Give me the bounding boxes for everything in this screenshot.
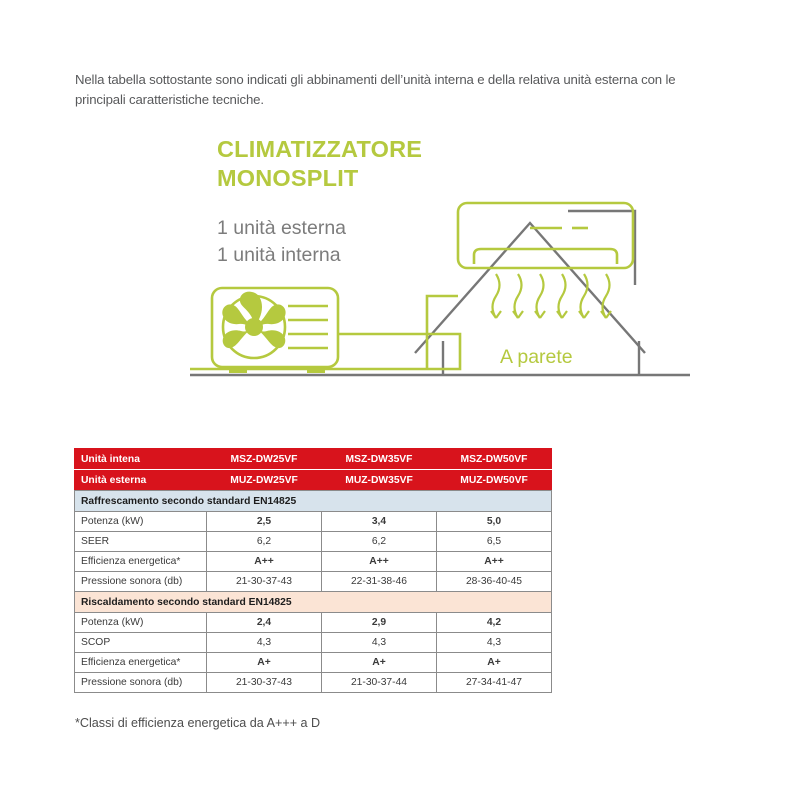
header-label-outdoor: Unità esterna (75, 470, 207, 491)
table-row: SEER 6,2 6,2 6,5 (75, 532, 552, 552)
row-value: 2,5 (207, 512, 322, 532)
specifications-table: Unità intena MSZ-DW25VF MSZ-DW35VF MSZ-D… (74, 448, 552, 693)
wall-mounted-split-icon (458, 203, 633, 268)
header-model-outdoor-2: MUZ-DW35VF (322, 470, 437, 491)
row-value: 6,2 (207, 532, 322, 552)
row-value: A+ (437, 653, 552, 673)
header-model-outdoor-1: MUZ-DW25VF (207, 470, 322, 491)
row-value: 22-31-38-46 (322, 572, 437, 592)
product-illustration: CLIMATIZZATORE MONOSPLIT 1 unità esterna… (190, 128, 690, 393)
efficiency-class-footnote: *Classi di efficienza energetica da A+++… (75, 716, 320, 730)
row-value: 21-30-37-43 (207, 673, 322, 693)
row-label: Pressione sonora (db) (75, 572, 207, 592)
outdoor-condenser-icon (212, 288, 338, 373)
row-value: A+ (322, 653, 437, 673)
header-model-indoor-1: MSZ-DW25VF (207, 449, 322, 470)
row-value: 5,0 (437, 512, 552, 532)
illustration-title-line1: CLIMATIZZATORE (217, 136, 422, 162)
illustration-subtitle-line1: 1 unità esterna (217, 217, 346, 239)
row-label: Efficienza energetica* (75, 653, 207, 673)
table-row: Pressione sonora (db) 21-30-37-43 22-31-… (75, 572, 552, 592)
table-row: SCOP 4,3 4,3 4,3 (75, 633, 552, 653)
row-value: 21-30-37-44 (322, 673, 437, 693)
row-label: Pressione sonora (db) (75, 673, 207, 693)
intro-paragraph: Nella tabella sottostante sono indicati … (75, 70, 725, 111)
row-value: A++ (207, 552, 322, 572)
row-value: 6,5 (437, 532, 552, 552)
row-value: A++ (322, 552, 437, 572)
table-header-row-outdoor: Unità esterna MUZ-DW25VF MUZ-DW35VF MUZ-… (75, 470, 552, 491)
table-row: Pressione sonora (db) 21-30-37-43 21-30-… (75, 673, 552, 693)
row-value: 21-30-37-43 (207, 572, 322, 592)
row-label: SEER (75, 532, 207, 552)
row-value: 4,2 (437, 613, 552, 633)
row-value: A+ (207, 653, 322, 673)
row-value: A++ (437, 552, 552, 572)
row-value: 2,9 (322, 613, 437, 633)
illustration-caption: A parete (500, 346, 573, 368)
row-label: Potenza (kW) (75, 512, 207, 532)
row-label: Potenza (kW) (75, 613, 207, 633)
row-label: SCOP (75, 633, 207, 653)
row-value: 4,3 (207, 633, 322, 653)
section-band-cooling: Raffrescamento secondo standard EN14825 (75, 491, 552, 512)
table-row: Potenza (kW) 2,5 3,4 5,0 (75, 512, 552, 532)
section-band-cooling-label: Raffrescamento secondo standard EN14825 (75, 491, 552, 512)
table-row: Potenza (kW) 2,4 2,9 4,2 (75, 613, 552, 633)
header-model-indoor-2: MSZ-DW35VF (322, 449, 437, 470)
row-value: 4,3 (322, 633, 437, 653)
table-row: Efficienza energetica* A+ A+ A+ (75, 653, 552, 673)
row-value: 3,4 (322, 512, 437, 532)
row-label: Efficienza energetica* (75, 552, 207, 572)
header-label-indoor: Unità intena (75, 449, 207, 470)
table-header-row-indoor: Unità intena MSZ-DW25VF MSZ-DW35VF MSZ-D… (75, 449, 552, 470)
section-band-heating-label: Riscaldamento secondo standard EN14825 (75, 592, 552, 613)
header-model-outdoor-3: MUZ-DW50VF (437, 470, 552, 491)
table-row: Efficienza energetica* A++ A++ A++ (75, 552, 552, 572)
illustration-subtitle-line2: 1 unità interna (217, 244, 341, 266)
section-band-heating: Riscaldamento secondo standard EN14825 (75, 592, 552, 613)
row-value: 27-34-41-47 (437, 673, 552, 693)
row-value: 2,4 (207, 613, 322, 633)
row-value: 28-36-40-45 (437, 572, 552, 592)
illustration-title-line2: MONOSPLIT (217, 165, 359, 191)
row-value: 6,2 (322, 532, 437, 552)
header-model-indoor-3: MSZ-DW50VF (437, 449, 552, 470)
row-value: 4,3 (437, 633, 552, 653)
